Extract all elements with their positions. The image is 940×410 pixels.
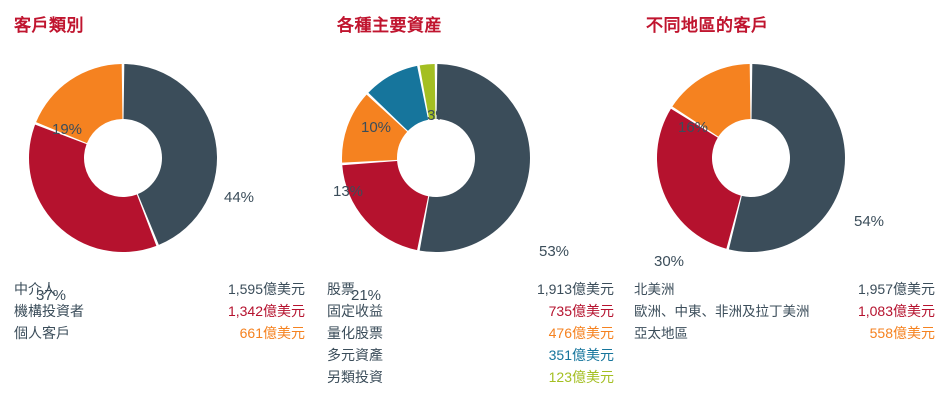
legend-item-label: 歐洲、中東、非洲及拉丁美洲 bbox=[634, 301, 810, 323]
legend-row: 機構投資者1,342億美元 bbox=[14, 300, 305, 322]
legend-item-label: 量化股票 bbox=[327, 322, 383, 344]
donut-slice bbox=[342, 161, 428, 250]
legend-item-label: 另類投資 bbox=[327, 366, 383, 388]
slice-percentage-label: 44% bbox=[224, 189, 254, 206]
slice-percentage-label: 54% bbox=[854, 213, 884, 230]
donut-chart-asset-class: 53%21%13%10%3% bbox=[341, 63, 531, 253]
legend-item-value: 476億美元 bbox=[549, 322, 614, 344]
donut-svg bbox=[341, 63, 531, 253]
legend-row: 中介人1,595億美元 bbox=[14, 278, 305, 300]
legend-item-label: 多元資產 bbox=[327, 344, 383, 366]
slice-percentage-label: 19% bbox=[52, 121, 82, 138]
donut-charts-infographic: 客戶類別 44%37%19% 中介人1,595億美元機構投資者1,342億美元個… bbox=[0, 0, 940, 410]
legend-item-value: 351億美元 bbox=[549, 344, 614, 366]
legend-item-value: 661億美元 bbox=[240, 322, 305, 344]
legend-row: 另類投資123億美元 bbox=[327, 366, 614, 388]
page-title: 各種主要資産 bbox=[337, 11, 442, 36]
donut-svg bbox=[28, 63, 218, 253]
donut-svg bbox=[656, 63, 846, 253]
slice-percentage-label: 10% bbox=[361, 119, 391, 136]
legend-item-label: 北美洲 bbox=[634, 279, 675, 301]
donut-chart-client-type: 44%37%19% bbox=[28, 63, 218, 253]
page-title: 不同地區的客戶 bbox=[646, 11, 769, 36]
chart-panel-client-type: 客戶類別 44%37%19% 中介人1,595億美元機構投資者1,342億美元個… bbox=[0, 0, 313, 410]
donut-chart-region: 54%30%16% bbox=[656, 63, 846, 253]
legend-item-value: 558億美元 bbox=[870, 322, 935, 344]
legend-item-value: 1,083億美元 bbox=[858, 300, 935, 322]
legend-client-type: 中介人1,595億美元機構投資者1,342億美元個人客戶661億美元 bbox=[14, 278, 305, 344]
legend-item-label: 亞太地區 bbox=[634, 323, 688, 345]
legend-row: 北美洲1,957億美元 bbox=[634, 278, 935, 300]
legend-row: 歐洲、中東、非洲及拉丁美洲1,083億美元 bbox=[634, 300, 935, 322]
chart-panel-region: 不同地區的客戶 54%30%16% 北美洲1,957億美元歐洲、中東、非洲及拉丁… bbox=[626, 0, 939, 410]
slice-percentage-label: 13% bbox=[333, 183, 363, 200]
legend-row: 多元資產351億美元 bbox=[327, 344, 614, 366]
legend-region: 北美洲1,957億美元歐洲、中東、非洲及拉丁美洲1,083億美元亞太地區558億… bbox=[634, 278, 935, 344]
slice-percentage-label: 3% bbox=[427, 107, 449, 124]
legend-row: 亞太地區558億美元 bbox=[634, 322, 935, 344]
slice-percentage-label: 53% bbox=[539, 243, 569, 260]
legend-item-label: 機構投資者 bbox=[14, 300, 84, 322]
slice-percentage-label: 16% bbox=[678, 119, 708, 136]
legend-item-value: 1,957億美元 bbox=[858, 278, 935, 300]
chart-panel-asset-class: 各種主要資産 53%21%13%10%3% 股票1,913億美元固定收益735億… bbox=[313, 0, 626, 410]
donut-slice bbox=[420, 64, 530, 252]
legend-item-label: 股票 bbox=[327, 278, 355, 300]
legend-asset-class: 股票1,913億美元固定收益735億美元量化股票476億美元多元資產351億美元… bbox=[327, 278, 614, 388]
legend-item-value: 123億美元 bbox=[549, 366, 614, 388]
legend-item-value: 1,342億美元 bbox=[228, 300, 305, 322]
legend-item-label: 中介人 bbox=[14, 278, 56, 300]
legend-row: 量化股票476億美元 bbox=[327, 322, 614, 344]
legend-item-label: 個人客戶 bbox=[14, 322, 70, 344]
legend-item-value: 735億美元 bbox=[549, 300, 614, 322]
page-title: 客戶類別 bbox=[14, 11, 84, 36]
legend-row: 個人客戶661億美元 bbox=[14, 322, 305, 344]
legend-row: 固定收益735億美元 bbox=[327, 300, 614, 322]
donut-slice bbox=[29, 125, 156, 252]
slice-percentage-label: 30% bbox=[654, 253, 684, 270]
legend-item-value: 1,595億美元 bbox=[228, 278, 305, 300]
legend-item-value: 1,913億美元 bbox=[537, 278, 614, 300]
legend-row: 股票1,913億美元 bbox=[327, 278, 614, 300]
legend-item-label: 固定收益 bbox=[327, 300, 383, 322]
